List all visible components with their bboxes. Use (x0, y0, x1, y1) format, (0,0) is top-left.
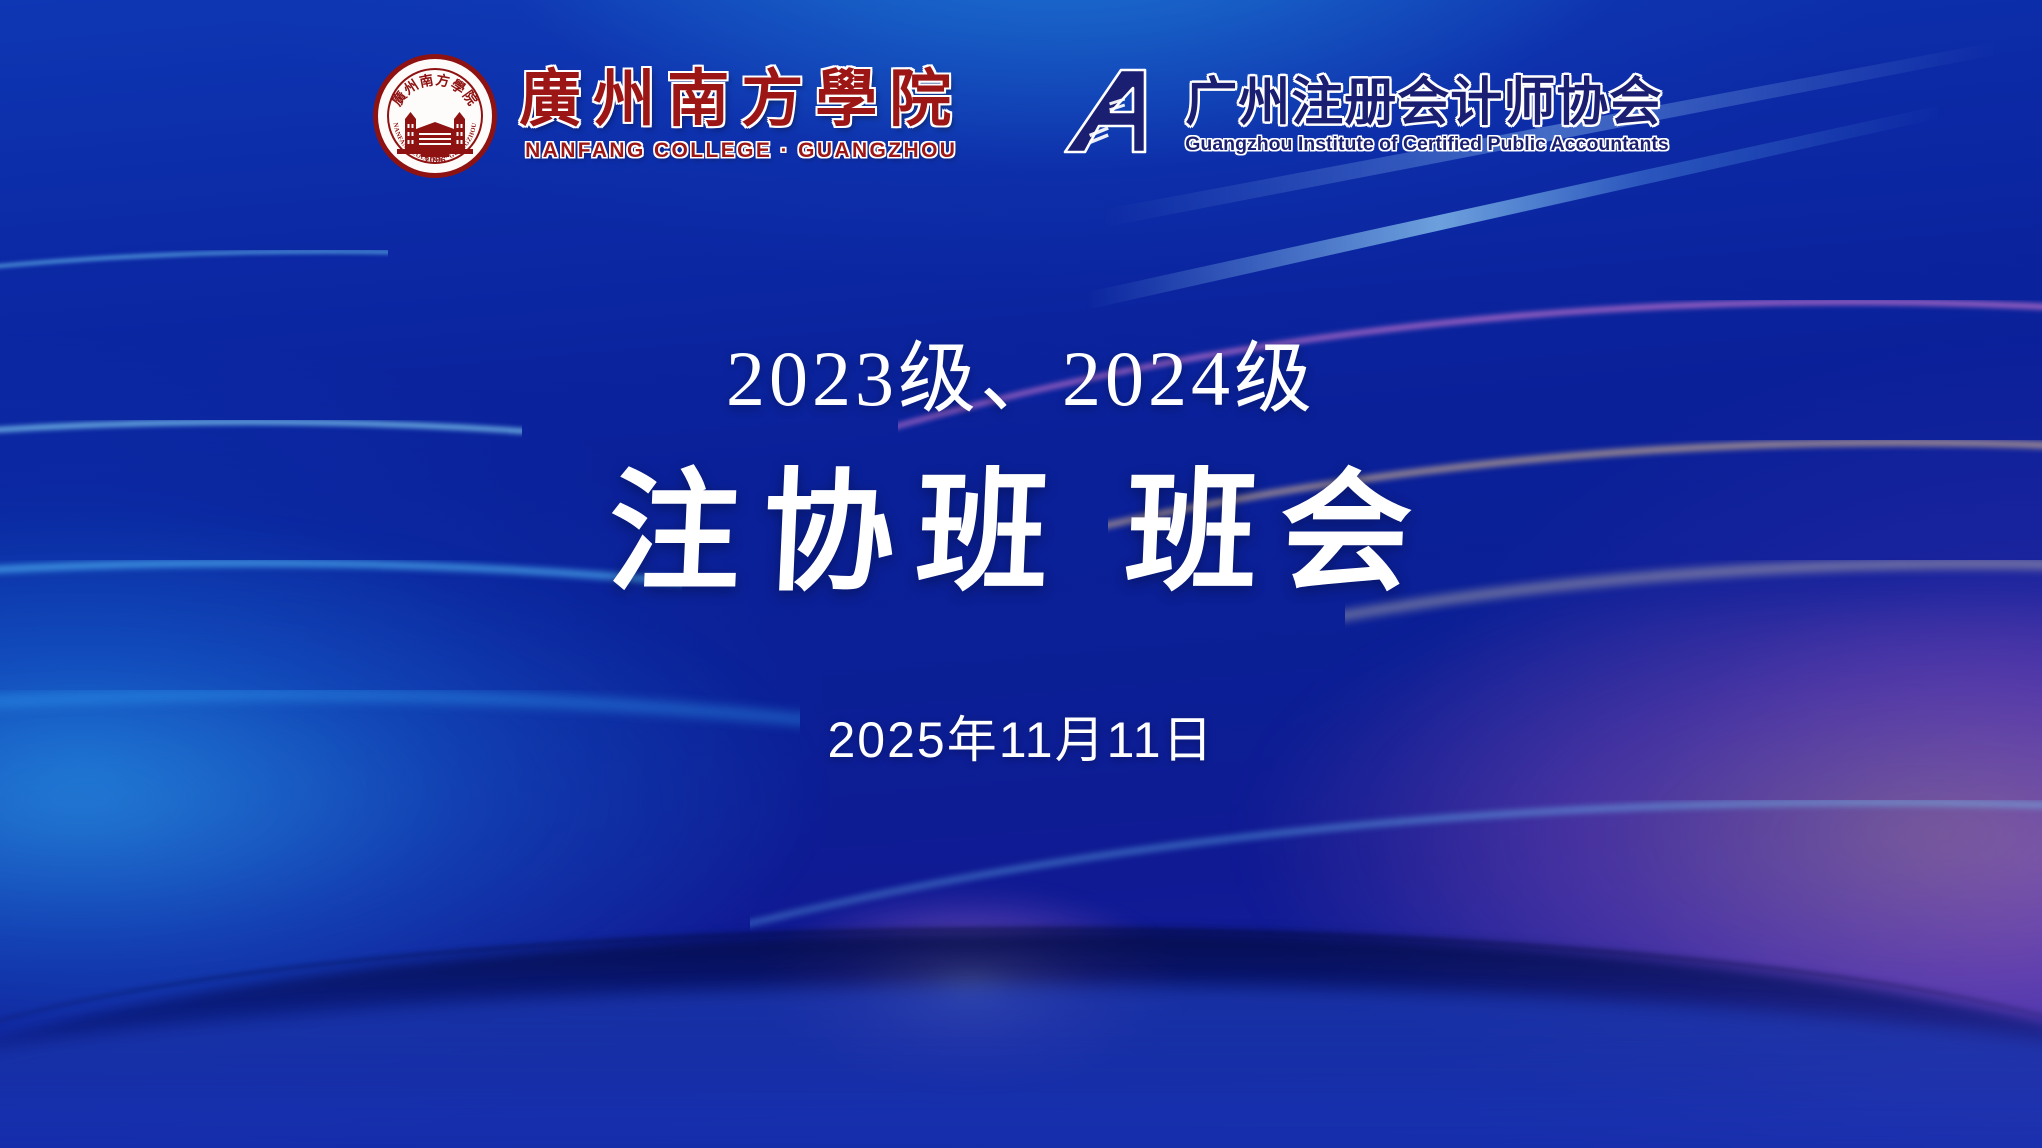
university-name-en: NANFANG COLLEGE · GUANGZHOU (519, 139, 963, 163)
page-title: 注协班 班会 (0, 460, 2042, 608)
event-date: 2025年11月11日 (0, 700, 2042, 772)
seal-established-year: 2006 (378, 155, 492, 165)
cpa-name-en: Guangzhou Institute of Certified Public … (1185, 133, 1669, 156)
university-seal-icon: 廣州南方學院 NANFANG COLLEGE · GUANGZHOU (373, 54, 497, 178)
lower-horizon-band (0, 985, 2042, 1148)
presentation-slide: 廣州南方學院 NANFANG COLLEGE · GUANGZHOU (0, 0, 2042, 1148)
cpa-monogram-a-icon (1059, 64, 1169, 168)
seal-building-icon (397, 109, 473, 157)
university-name-group: 廣州南方學院 NANFANG COLLEGE · GUANGZHOU (519, 69, 963, 162)
cpa-name-cn: 广州注册会计师协会 (1185, 76, 1669, 131)
university-name-cn: 廣州南方學院 (519, 69, 963, 132)
svg-text:廣州南方學院: 廣州南方學院 (389, 71, 482, 108)
logo-bar: 廣州南方學院 NANFANG COLLEGE · GUANGZHOU (0, 46, 2042, 186)
cyan-ribbon-5 (120, 800, 2042, 1148)
horizon-edge-line (0, 928, 2042, 1148)
dark-horizon-band (0, 930, 2042, 1148)
title-block: 2023级、2024级 注协班 班会 2025年11月11日 (0, 340, 2042, 772)
university-logo: 廣州南方學院 NANFANG COLLEGE · GUANGZHOU (373, 54, 963, 178)
cpa-name-group: 广州注册会计师协会 Guangzhou Institute of Certifi… (1185, 76, 1669, 157)
center-light-burst (760, 890, 1180, 1080)
grade-subtitle: 2023级、2024级 (0, 340, 2042, 418)
cpa-association-logo: 广州注册会计师协会 Guangzhou Institute of Certifi… (1059, 64, 1669, 168)
